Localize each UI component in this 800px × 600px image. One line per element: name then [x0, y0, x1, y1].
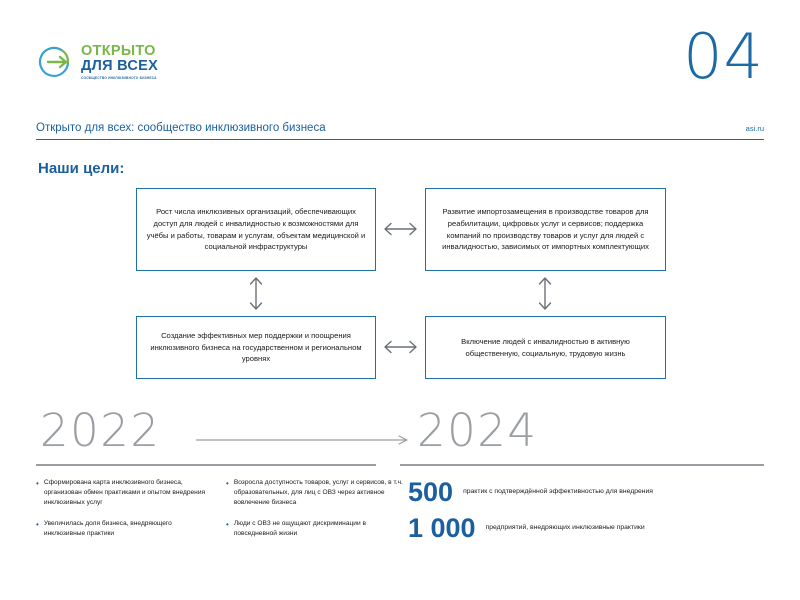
bullet-text: Сформирована карта инклюзивного бизнеса,…: [44, 478, 214, 508]
stat-item: 1 000 предприятий, внедряющих инклюзивны…: [408, 514, 764, 542]
list-item: • Возросла доступность товаров, услуг и …: [226, 478, 404, 508]
goal-box-bottom-left: Создание эффективных мер поддержки и поо…: [136, 316, 376, 379]
stat-label: предприятий, внедряющих инклюзивные прак…: [486, 523, 645, 533]
bullet-text: Возросла доступность товаров, услуг и се…: [234, 478, 404, 508]
section-title: Наши цели:: [38, 160, 124, 177]
list-item: • Увеличилась доля бизнеса, внедряющего …: [36, 519, 214, 539]
stat-number: 500: [408, 478, 453, 506]
timeline-year-end: 2024: [417, 408, 538, 453]
goal-text: Рост числа инклюзивных организаций, обес…: [145, 206, 367, 252]
list-item: • Сформирована карта инклюзивного бизнес…: [36, 478, 214, 508]
logo-wordmark: ОТКРЫТО ДЛЯ ВСЕХ СООБЩЕСТВО ИНКЛЮЗИВНОГО…: [81, 44, 158, 80]
page-number: 04: [683, 26, 764, 88]
bullet-dot-icon: •: [36, 519, 39, 539]
divider-left: [36, 464, 376, 466]
double-arrow-vertical-icon: [534, 271, 556, 316]
logo-line-1: ОТКРЫТО: [81, 44, 158, 59]
header-site-link[interactable]: asi.ru: [746, 124, 764, 133]
brand-logo: ОТКРЫТО ДЛЯ ВСЕХ СООБЩЕСТВО ИНКЛЮЗИВНОГО…: [38, 44, 158, 80]
bullet-column-left: • Сформирована карта инклюзивного бизнес…: [36, 478, 214, 549]
bullet-dot-icon: •: [226, 519, 229, 539]
bullet-dot-icon: •: [226, 478, 229, 508]
statistics-block: 500 практик с подтверждённой эффективнос…: [408, 478, 764, 551]
goal-box-bottom-right: Включение людей с инвалидностью в активн…: [425, 316, 666, 379]
outcomes-bullets: • Сформирована карта инклюзивного бизнес…: [36, 478, 411, 549]
logo-line-2: ДЛЯ ВСЕХ: [81, 59, 158, 74]
slide-header: Открыто для всех: сообщество инклюзивног…: [36, 122, 764, 140]
list-item: • Люди с ОВЗ не ощущают дискриминации в …: [226, 519, 404, 539]
stat-number: 1 000: [408, 514, 476, 542]
bullet-text: Люди с ОВЗ не ощущают дискриминации в по…: [234, 519, 404, 539]
double-arrow-vertical-icon: [245, 271, 267, 316]
logo-subtitle: СООБЩЕСТВО ИНКЛЮЗИВНОГО БИЗНЕСА: [81, 76, 158, 80]
goal-text: Включение людей с инвалидностью в активн…: [434, 336, 657, 359]
circle-arrow-icon: [38, 44, 74, 80]
slide-root: ОТКРЫТО ДЛЯ ВСЕХ СООБЩЕСТВО ИНКЛЮЗИВНОГО…: [0, 0, 800, 600]
goal-box-top-right: Развитие импортозамещения в производстве…: [425, 188, 666, 271]
double-arrow-horizontal-icon: [376, 336, 425, 358]
double-arrow-horizontal-icon: [376, 218, 425, 240]
divider-right: [400, 464, 764, 466]
goal-text: Развитие импортозамещения в производстве…: [434, 206, 657, 252]
header-title: Открыто для всех: сообщество инклюзивног…: [36, 122, 326, 134]
bullet-column-right: • Возросла доступность товаров, услуг и …: [226, 478, 404, 549]
stat-label: практик с подтверждённой эффективностью …: [463, 487, 653, 497]
timeline-year-start: 2022: [40, 408, 161, 453]
bullet-dot-icon: •: [36, 478, 39, 508]
goal-text: Создание эффективных мер поддержки и поо…: [145, 330, 367, 365]
goals-diagram: Рост числа инклюзивных организаций, обес…: [136, 188, 666, 393]
goal-box-top-left: Рост числа инклюзивных организаций, обес…: [136, 188, 376, 271]
stat-item: 500 практик с подтверждённой эффективнос…: [408, 478, 764, 506]
bullet-text: Увеличилась доля бизнеса, внедряющего ин…: [44, 519, 214, 539]
right-arrow-icon: [196, 432, 412, 442]
timeline: 2022 2024: [36, 408, 764, 466]
